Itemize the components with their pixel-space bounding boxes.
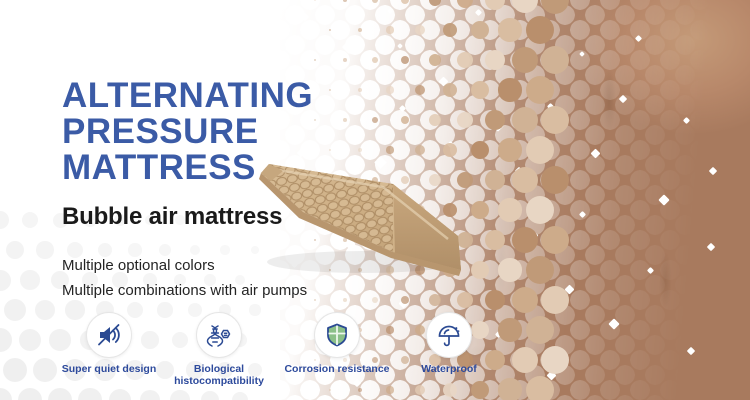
halftone-dot — [386, 266, 393, 273]
halftone-dot — [329, 29, 332, 32]
halftone-dot — [485, 170, 506, 191]
sparkle-icon — [683, 117, 690, 124]
halftone-dot — [386, 26, 393, 33]
halftone-dot — [512, 47, 538, 73]
halftone-dot — [457, 172, 473, 188]
feature-corrosion-resistance[interactable]: Corrosion resistance — [278, 312, 396, 375]
background-dot — [3, 358, 27, 382]
sparkle-icon — [591, 149, 601, 159]
halftone-dot — [386, 206, 393, 213]
bullet-item: Multiple optional colors — [62, 253, 307, 278]
halftone-dot — [429, 234, 441, 246]
halftone-dot — [358, 28, 363, 33]
background-dot — [232, 392, 249, 400]
halftone-dot — [343, 298, 347, 302]
halftone-dot — [471, 261, 489, 279]
halftone-dot — [457, 292, 473, 308]
halftone-dot — [471, 201, 489, 219]
umbrella-icon — [436, 322, 462, 348]
halftone-dot — [457, 232, 473, 248]
feature-icon-circle — [196, 312, 242, 358]
feature-icon-circle — [426, 312, 472, 358]
halftone-dot — [343, 0, 347, 2]
halftone-dot — [372, 117, 378, 123]
product-banner: ALTERNATING PRESSURE MATTRESS Bubble air… — [0, 0, 750, 400]
background-dot — [0, 270, 11, 291]
background-dot — [18, 388, 42, 400]
halftone-dot — [443, 143, 457, 157]
halftone-dot — [358, 88, 363, 93]
halftone-dot — [358, 148, 363, 153]
halftone-dot — [372, 297, 378, 303]
halftone-dot — [329, 89, 332, 92]
sparkle-icon — [707, 243, 715, 251]
feature-label: Biological histocompatibility — [160, 363, 278, 387]
halftone-dot — [343, 238, 347, 242]
halftone-dot — [443, 23, 457, 37]
background-dot — [6, 241, 25, 260]
background-dot — [36, 241, 53, 258]
background-dot — [22, 212, 38, 228]
sparkle-icon — [647, 267, 654, 274]
halftone-dot — [386, 86, 393, 93]
sparkle-icon — [687, 347, 695, 355]
halftone-dot — [541, 166, 569, 194]
halftone-dot — [512, 167, 538, 193]
halftone-dot — [358, 208, 363, 213]
feature-biological-histocompatibility[interactable]: Biological histocompatibility — [160, 312, 278, 387]
sparkle-icon — [635, 35, 642, 42]
halftone-dot — [541, 226, 569, 254]
halftone-dot — [401, 296, 410, 305]
halftone-dot — [443, 83, 457, 97]
halftone-dot — [485, 0, 506, 10]
halftone-dot — [401, 236, 410, 245]
sparkle-icon — [608, 318, 619, 329]
halftone-dot — [401, 56, 410, 65]
background-dot — [201, 391, 219, 400]
halftone-dot — [471, 21, 489, 39]
halftone-dot — [457, 112, 473, 128]
sparkle-icon — [579, 51, 585, 57]
halftone-dot — [372, 237, 378, 243]
sparkle-icon — [579, 211, 586, 218]
halftone-dot — [471, 141, 489, 159]
halftone-dot — [343, 118, 347, 122]
halftone-dot — [485, 110, 506, 131]
headline-line-3: MATTRESS — [62, 150, 313, 186]
feature-super-quiet-design[interactable]: Super quiet design — [50, 312, 168, 375]
halftone-dot — [415, 25, 425, 35]
headline-line-2: PRESSURE — [62, 114, 313, 150]
sparkle-icon — [619, 95, 627, 103]
halftone-dot — [526, 136, 554, 164]
halftone-dot — [471, 81, 489, 99]
shield-icon — [324, 322, 350, 348]
halftone-dot — [498, 378, 521, 400]
halftone-dot — [498, 198, 521, 221]
halftone-dot — [512, 287, 538, 313]
halftone-dot — [329, 149, 332, 152]
halftone-dot — [343, 178, 347, 182]
subheadline: Bubble air mattress — [62, 203, 282, 231]
halftone-dot — [498, 78, 521, 101]
bullet-item: Multiple combinations with air pumps — [62, 278, 307, 303]
halftone-dot — [415, 145, 425, 155]
feature-label: Super quiet design — [50, 363, 168, 375]
halftone-dot — [358, 268, 363, 273]
halftone-dot — [498, 18, 521, 41]
feature-label: Waterproof — [390, 363, 508, 375]
halftone-dot — [526, 196, 554, 224]
halftone-dot — [314, 299, 316, 301]
halftone-dot — [512, 107, 538, 133]
halftone-dot — [485, 50, 506, 71]
halftone-dot — [498, 258, 521, 281]
halftone-dot — [457, 0, 473, 8]
halftone-dot — [541, 106, 569, 134]
halftone-dot — [541, 286, 569, 314]
halftone-dot — [329, 269, 332, 272]
halftone-dot — [372, 57, 378, 63]
halftone-dot — [429, 54, 441, 66]
halftone-dot — [457, 52, 473, 68]
halftone-dot — [526, 256, 554, 284]
halftone-dot — [314, 59, 316, 61]
halftone-dot — [429, 174, 441, 186]
halftone-dot — [526, 76, 554, 104]
halftone-dot — [485, 290, 506, 311]
sparkle-icon — [709, 167, 717, 175]
halftone-dot — [401, 116, 410, 125]
halftone-dot — [314, 239, 316, 241]
background-dot — [0, 211, 9, 229]
halftone-dot — [329, 209, 332, 212]
halftone-dot — [526, 376, 554, 400]
halftone-dot — [443, 263, 457, 277]
halftone-dot — [429, 0, 441, 6]
halftone-dot — [372, 177, 378, 183]
halftone-dot — [429, 294, 441, 306]
background-dot — [0, 328, 12, 352]
halftone-dot — [415, 205, 425, 215]
halftone-dot — [498, 138, 521, 161]
halftone-dot — [415, 85, 425, 95]
feature-waterproof[interactable]: Waterproof — [390, 312, 508, 375]
page-title: ALTERNATING PRESSURE MATTRESS — [62, 78, 313, 186]
halftone-dot — [512, 347, 538, 373]
halftone-dot — [386, 146, 393, 153]
mute-speaker-icon — [96, 322, 122, 348]
halftone-dot — [443, 203, 457, 217]
feature-label: Corrosion resistance — [278, 363, 396, 375]
halftone-dot — [429, 114, 441, 126]
feature-bullets: Multiple optional colors Multiple combin… — [62, 253, 307, 303]
background-dot — [4, 299, 26, 321]
halftone-dot — [372, 0, 378, 3]
halftone-dot — [512, 0, 538, 13]
headline-line-1: ALTERNATING — [62, 78, 313, 114]
feature-icon-circle — [86, 312, 132, 358]
halftone-dot — [541, 346, 569, 374]
background-dot — [19, 329, 42, 352]
sparkle-icon — [658, 194, 669, 205]
halftone-dot — [401, 0, 410, 4]
dna-molecule-icon — [206, 322, 232, 348]
halftone-dot — [526, 316, 554, 344]
halftone-dot — [314, 179, 316, 181]
halftone-dot — [314, 119, 316, 121]
feature-icon-circle — [314, 312, 360, 358]
halftone-dot — [541, 46, 569, 74]
background-dot — [0, 388, 12, 400]
halftone-dot — [526, 16, 554, 44]
halftone-dot — [485, 230, 506, 251]
halftone-dot — [415, 265, 425, 275]
background-dot — [20, 270, 40, 290]
halftone-dot — [401, 176, 410, 185]
halftone-dot — [343, 58, 347, 62]
feature-icon-row: Super quiet design Biolog — [50, 312, 500, 392]
halftone-dot — [314, 0, 316, 1]
halftone-dot — [512, 227, 538, 253]
